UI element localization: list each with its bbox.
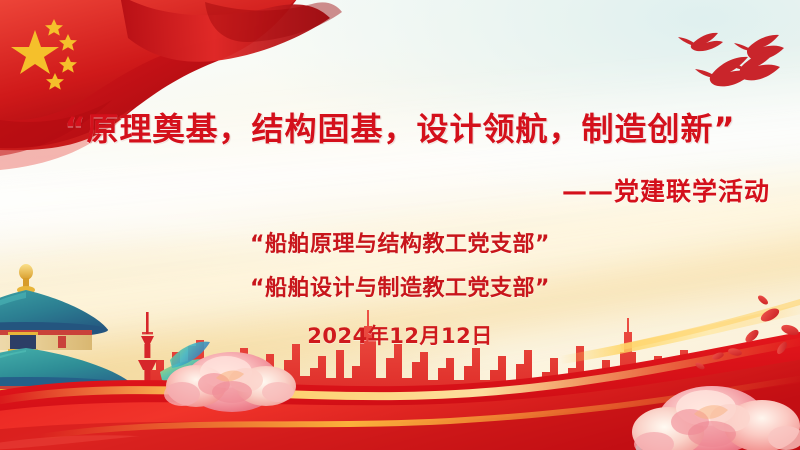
poster-text-block: “原理奠基，结构固基，设计领航，制造创新” ——党建联学活动 “船舶原理与结构教… [0,0,800,450]
poster-subtitle: ——党建联学活动 [562,172,770,208]
poster-main-title: “原理奠基，结构固基，设计领航，制造创新” [0,104,800,150]
poster-branch-line-1: “船舶原理与结构教工党支部” [0,226,800,258]
poster-branch-line-2: “船舶设计与制造教工党支部” [0,270,800,302]
poster-canvas: “原理奠基，结构固基，设计领航，制造创新” ——党建联学活动 “船舶原理与结构教… [0,0,800,450]
poster-date: 2024年12月12日 [0,320,800,350]
